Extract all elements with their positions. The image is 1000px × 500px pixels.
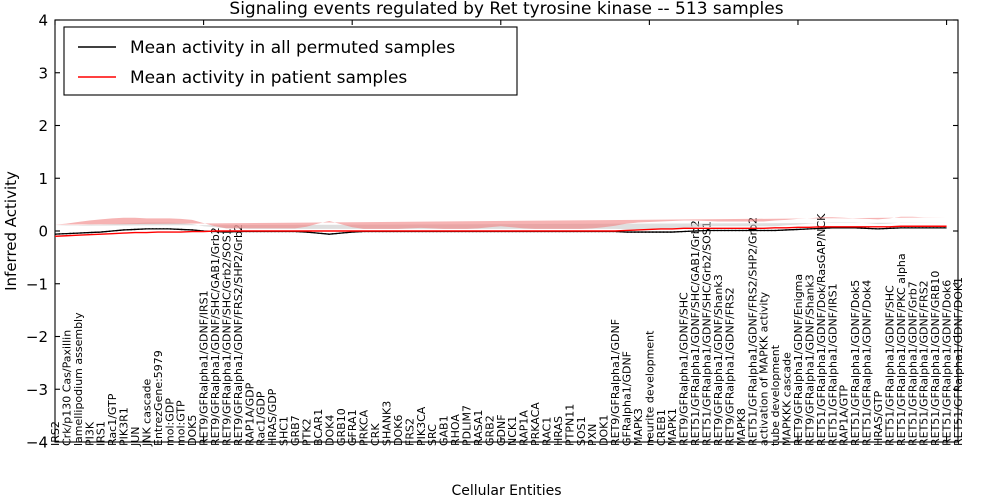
legend[interactable]: Mean activity in all permuted samplesMea… — [64, 27, 517, 95]
y-tick-label: −4 — [26, 434, 48, 452]
y-tick-label: 4 — [38, 12, 48, 30]
x-axis-label: Cellular Entities — [451, 483, 561, 499]
legend-label-2: Mean activity in patient samples — [130, 68, 407, 88]
y-tick-label: −3 — [26, 381, 48, 399]
y-tick-label: 1 — [38, 170, 48, 188]
chart-title: Signaling events regulated by Ret tyrosi… — [229, 0, 783, 19]
y-tick-label: −1 — [26, 275, 48, 293]
y-tick-label: 3 — [38, 64, 48, 82]
x-tick-label: RET51/GFRalpha1/GDNF/DOK1 — [952, 277, 965, 446]
y-axis-label: Inferred Activity — [2, 171, 20, 291]
y-tick-label: 0 — [38, 223, 48, 241]
legend-label-1: Mean activity in all permuted samples — [130, 38, 455, 58]
y-tick-label: 2 — [38, 117, 48, 135]
chart-svg: −4−3−2−101234IRS2Crk/p130 Cas/Paxillinla… — [0, 0, 1000, 500]
figure-canvas: −4−3−2−101234IRS2Crk/p130 Cas/Paxillinla… — [0, 0, 1000, 500]
y-tick-label: −2 — [26, 328, 48, 346]
